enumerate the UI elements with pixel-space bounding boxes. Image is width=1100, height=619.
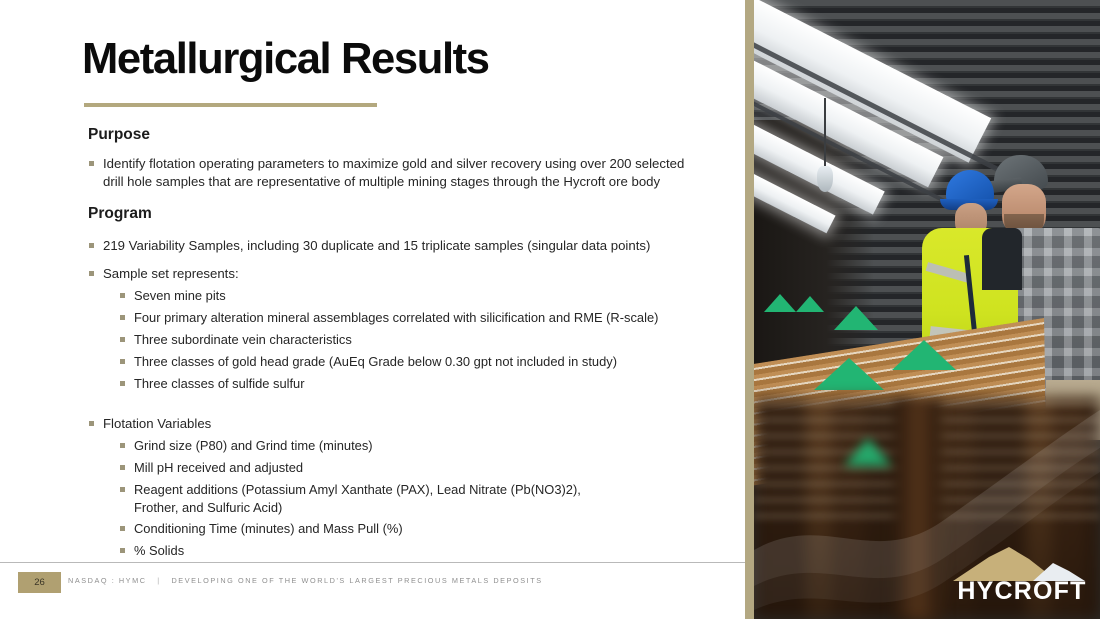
green-triangle-marker — [892, 340, 956, 370]
logo-wordmark: HYCROFT — [947, 577, 1097, 606]
bullet-square-icon — [120, 487, 125, 492]
pendant-lamp-cord — [824, 98, 826, 170]
bullet-square-icon — [120, 315, 125, 320]
footer-description: DEVELOPING ONE OF THE WORLD'S LARGEST PR… — [171, 576, 542, 585]
bullet-text: Grind size (P80) and Grind time (minutes… — [134, 437, 373, 455]
bullet-item: % Solids — [120, 542, 740, 560]
page-number: 26 — [18, 572, 61, 593]
bullet-text: Three classes of gold head grade (AuEq G… — [134, 353, 617, 371]
green-triangle-marker — [764, 294, 796, 312]
bullet-square-icon — [89, 421, 94, 426]
bullet-square-icon — [120, 359, 125, 364]
section-heading-purpose: Purpose — [88, 126, 150, 144]
green-triangle-marker — [796, 296, 824, 312]
bullet-text: Mill pH received and adjusted — [134, 459, 303, 477]
bullet-square-icon — [120, 548, 125, 553]
bullet-text: Four primary alteration mineral assembla… — [134, 309, 658, 327]
slide: Metallurgical Results Purpose Identify f… — [0, 0, 1100, 619]
bullet-square-icon — [89, 161, 94, 166]
bullet-square-icon — [120, 381, 125, 386]
worker-jacket-shoulder — [982, 228, 1022, 290]
bullet-text: % Solids — [134, 542, 184, 560]
title-underline-rule — [84, 103, 377, 107]
bullet-text: Sample set represents: — [103, 265, 239, 283]
accent-band — [745, 0, 754, 619]
bullet-text: Seven mine pits — [134, 287, 226, 305]
bullet-item: 219 Variability Samples, including 30 du… — [89, 237, 739, 255]
footer-tagline: NASDAQ : HYMC | DEVELOPING ONE OF THE WO… — [68, 576, 543, 585]
bullet-square-icon — [120, 526, 125, 531]
footer-divider — [0, 562, 745, 563]
bullet-item: Sample set represents: — [89, 265, 739, 283]
bullet-text: Conditioning Time (minutes) and Mass Pul… — [134, 520, 403, 538]
hycroft-logo: HYCROFT — [947, 543, 1097, 609]
bullet-item: Grind size (P80) and Grind time (minutes… — [120, 437, 740, 455]
bullet-item: Conditioning Time (minutes) and Mass Pul… — [120, 520, 740, 538]
page-title: Metallurgical Results — [82, 37, 489, 81]
bullet-item: Reagent additions (Potassium Amyl Xantha… — [120, 481, 740, 516]
bullet-text: Three classes of sulfide sulfur — [134, 375, 305, 393]
bullet-text: Reagent additions (Potassium Amyl Xantha… — [134, 481, 581, 516]
content-area: Metallurgical Results Purpose Identify f… — [0, 0, 745, 619]
green-triangle-marker — [814, 358, 884, 390]
pendant-lamp-bulb — [817, 166, 833, 192]
green-triangle-marker — [834, 306, 878, 330]
bullet-text: Identify flotation operating parameters … — [103, 155, 684, 190]
footer-exchange: NASDAQ : HYMC — [68, 576, 147, 585]
foreground-post — [894, 400, 942, 619]
bullet-item: Mill pH received and adjusted — [120, 459, 740, 477]
bullet-item: Three classes of sulfide sulfur — [120, 375, 740, 393]
page-number-box: 26 — [18, 572, 61, 593]
bullet-item: Identify flotation operating parameters … — [89, 155, 739, 190]
bullet-item: Three subordinate vein characteristics — [120, 331, 740, 349]
bullet-item: Three classes of gold head grade (AuEq G… — [120, 353, 740, 371]
bullet-square-icon — [120, 443, 125, 448]
bullet-item: Four primary alteration mineral assembla… — [120, 309, 740, 327]
bullet-item: Seven mine pits — [120, 287, 740, 305]
bullet-square-icon — [89, 271, 94, 276]
green-triangle-marker — [844, 438, 892, 466]
bullet-item: Flotation Variables — [89, 415, 739, 433]
bullet-square-icon — [120, 293, 125, 298]
bullet-text: 219 Variability Samples, including 30 du… — [103, 237, 650, 255]
bullet-text: Three subordinate vein characteristics — [134, 331, 352, 349]
bullet-square-icon — [120, 465, 125, 470]
photo-workers-core-trays: HYCROFT — [754, 0, 1100, 619]
bullet-text: Flotation Variables — [103, 415, 211, 433]
section-heading-program: Program — [88, 205, 152, 223]
bullet-square-icon — [89, 243, 94, 248]
bullet-square-icon — [120, 337, 125, 342]
